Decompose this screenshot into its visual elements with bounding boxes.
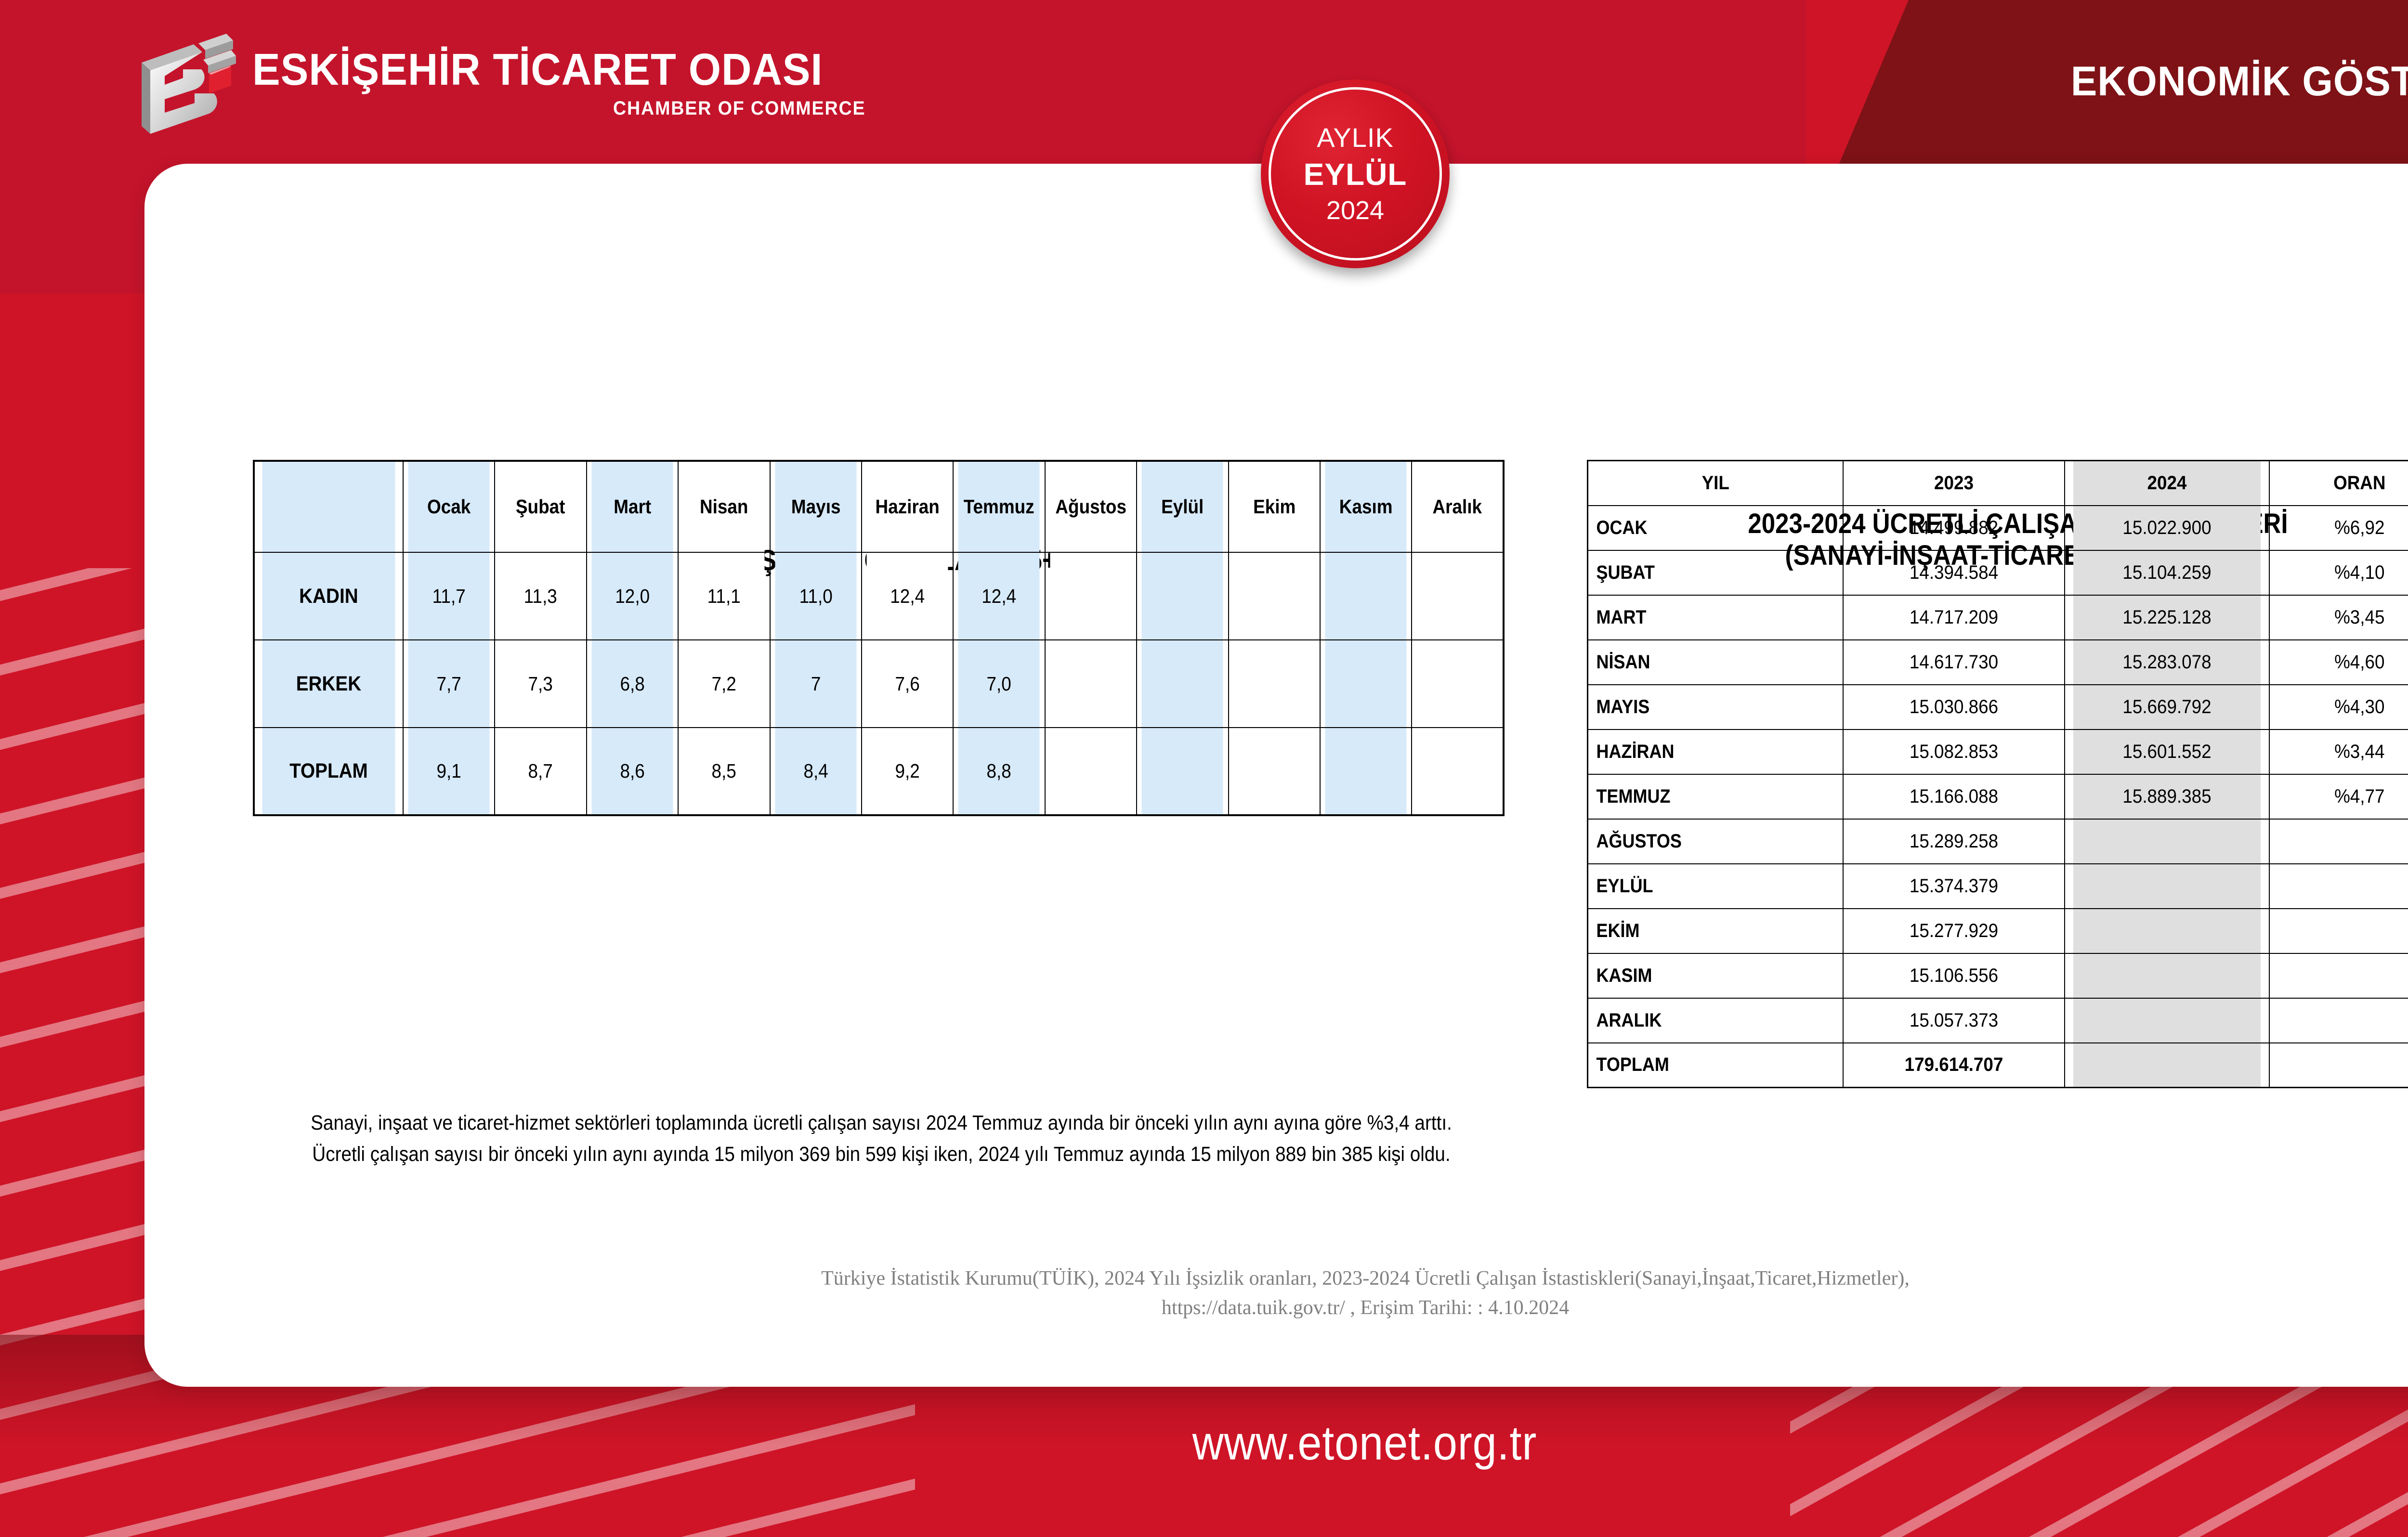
employees-cell-oran [2277,909,2408,953]
employees-table-header-row: YIL20232024ORAN [1588,461,2408,506]
unemployment-cell: 8,8 [958,728,1040,815]
poster-root: ESKİŞEHİR TİCARET ODASI CHAMBER OF COMME… [0,0,2408,1537]
employees-cell-2023: 15.106.556 [1852,953,2055,998]
unemployment-cell [1049,640,1132,728]
unemployment-cell [1141,640,1224,728]
unemployment-month-header: Temmuz [958,461,1040,552]
employees-table-row: AĞUSTOS15.289.258 [1588,819,2408,864]
employees-column-header: 2023 [1852,461,2055,506]
employees-cell-2023: 14.617.730 [1852,640,2055,685]
employees-table-row: HAZİRAN15.082.85315.601.552%3,44 [1588,729,2408,774]
unemployment-cell [1324,728,1407,815]
employees-table-row: EKİM15.277.929 [1588,909,2408,953]
employees-row-month: OCAK [1588,506,1818,550]
employees-cell-oran: %4,30 [2277,685,2408,729]
unemployment-cell: 8,7 [499,728,582,815]
unemployment-table-row: KADIN11,711,312,011,111,012,412,4 [254,552,1504,640]
unemployment-month-header: Haziran [866,461,948,552]
unemployment-cell: 7,6 [866,640,948,728]
employees-table-row: MART14.717.20915.225.128%3,45 [1588,595,2408,640]
employees-row-month: HAZİRAN [1588,729,1818,774]
unemployment-cell [1233,640,1315,728]
unemployment-cell: 11,3 [499,552,582,640]
employees-cell-2024 [2073,819,2261,864]
employees-cell-2024 [2073,1043,2261,1088]
unemployment-table-header-row: OcakŞubatMartNisanMayısHaziranTemmuzAğus… [254,461,1504,552]
employees-row-month: TEMMUZ [1588,774,1818,819]
unemployment-cell [1233,552,1315,640]
unemployment-table: OcakŞubatMartNisanMayısHaziranTemmuzAğus… [253,460,1505,816]
unemployment-cell [1416,728,1499,815]
unemployment-corner-cell [262,461,396,552]
unemployment-month-header: Kasım [1324,461,1407,552]
employees-row-month: EKİM [1588,909,1818,953]
unemployment-month-header: Ekim [1233,461,1315,552]
employees-cell-2023: 15.374.379 [1852,864,2055,909]
employees-table-row: EYLÜL15.374.379 [1588,864,2408,909]
brand-subtitle: CHAMBER OF COMMERCE [289,98,865,119]
employees-row-month: ŞUBAT [1588,550,1818,595]
employees-table: YIL20232024ORAN OCAK14.499.88215.022.900… [1587,460,2408,1088]
unemployment-month-header: Eylül [1141,461,1224,552]
unemployment-cell [1233,728,1315,815]
employees-cell-2024: 15.022.900 [2073,506,2261,550]
employees-row-month: MART [1588,595,1818,640]
eto-logo-icon [135,29,236,140]
employees-column-header: YIL [1598,461,1833,506]
employees-cell-2024: 15.283.078 [2073,640,2261,685]
employees-cell-oran: %4,77 [2277,774,2408,819]
unemployment-cell [1324,552,1407,640]
employees-cell-2024 [2073,909,2261,953]
brand-title: ESKİŞEHİR TİCARET ODASI [252,47,823,92]
employees-cell-oran: %3,45 [2277,595,2408,640]
employees-cell-2024: 15.104.259 [2073,550,2261,595]
month-seal-badge: AYLIK EYLÜL 2024 [1261,79,1450,268]
unemployment-cell: 8,5 [683,728,765,815]
unemployment-cell: 12,4 [958,552,1040,640]
unemployment-month-header: Ağustos [1049,461,1132,552]
unemployment-cell: 12,4 [866,552,948,640]
employees-cell-2024 [2073,864,2261,909]
unemployment-cell: 11,1 [683,552,765,640]
summary-note: Sanayi, inşaat ve ticaret-hizmet sektörl… [296,1107,1466,1171]
employees-cell-oran: %4,10 [2277,550,2408,595]
unemployment-cell [1416,552,1499,640]
unemployment-cell: 12,0 [591,552,673,640]
unemployment-month-header: Mart [591,461,673,552]
seal-year: 2024 [1326,195,1384,227]
employees-table-row: ARALIK15.057.373 [1588,998,2408,1043]
employees-cell-oran [2277,998,2408,1043]
employees-cell-2023: 14.499.882 [1852,506,2055,550]
employees-cell-2023: 15.057.373 [1852,998,2055,1043]
employees-cell-oran [2277,953,2408,998]
unemployment-cell [1416,640,1499,728]
employees-cell-oran: %4,60 [2277,640,2408,685]
employees-column-header: 2024 [2073,461,2261,506]
unemployment-table-row: ERKEK7,77,36,87,277,67,0 [254,640,1504,728]
employees-row-month: KASIM [1588,953,1818,998]
employees-table-row: TEMMUZ15.166.08815.889.385%4,77 [1588,774,2408,819]
unemployment-cell: 6,8 [591,640,673,728]
unemployment-cell [1324,640,1407,728]
employees-cell-2024: 15.669.792 [2073,685,2261,729]
employees-cell-2024: 15.225.128 [2073,595,2261,640]
employees-cell-2024: 15.601.552 [2073,729,2261,774]
unemployment-cell: 9,2 [866,728,948,815]
employees-cell-2024 [2073,998,2261,1043]
unemployment-cell: 7 [774,640,857,728]
employees-cell-oran [2277,864,2408,909]
unemployment-cell: 11,0 [774,552,857,640]
employees-cell-2024: 15.889.385 [2073,774,2261,819]
employees-row-month: ARALIK [1588,998,1818,1043]
unemployment-month-header: Şubat [499,461,582,552]
employees-cell-2023: 15.277.929 [1852,909,2055,953]
employees-cell-2023: 14.717.209 [1852,595,2055,640]
employees-cell-oran: %3,44 [2277,729,2408,774]
source-citation: Türkiye İstatistik Kurumu(TÜİK), 2024 Yı… [385,1264,2345,1323]
unemployment-cell: 7,0 [958,640,1040,728]
unemployment-cell: 8,4 [774,728,857,815]
unemployment-row-label: ERKEK [262,640,396,728]
unemployment-cell [1049,552,1132,640]
seal-month: EYLÜL [1304,155,1407,195]
unemployment-month-header: Aralık [1416,461,1499,552]
employees-row-month: TOPLAM [1588,1043,1818,1088]
employees-row-month: EYLÜL [1588,864,1818,909]
unemployment-month-header: Ocak [408,461,490,552]
employees-cell-2023: 15.030.866 [1852,685,2055,729]
unemployment-row-label: TOPLAM [262,728,396,815]
unemployment-table-row: TOPLAM9,18,78,68,58,49,28,8 [254,728,1504,815]
employees-cell-oran: %6,92 [2277,506,2408,550]
unemployment-cell: 11,7 [408,552,490,640]
employees-row-month: NİSAN [1588,640,1818,685]
source-line-1: Türkiye İstatistik Kurumu(TÜİK), 2024 Yı… [385,1264,2345,1293]
source-line-2: https://data.tuik.gov.tr/ , Erişim Tarih… [385,1293,2345,1323]
employees-column-header: ORAN [2277,461,2408,506]
page-title: EKONOMİK GÖSTERGELER [2071,58,2408,105]
unemployment-cell [1141,552,1224,640]
brand-text: ESKİŞEHİR TİCARET ODASI CHAMBER OF COMME… [252,29,865,119]
content-card: 2024 İŞSİZLİK ORANLARI (15+ YAŞ) 2023-20… [144,164,2408,1387]
employees-cell-oran [2277,1043,2408,1088]
website-url[interactable]: www.etonet.org.tr [136,1416,2408,1471]
unemployment-cell: 7,7 [408,640,490,728]
employees-table-row: NİSAN14.617.73015.283.078%4,60 [1588,640,2408,685]
employees-table-row: MAYIS15.030.86615.669.792%4,30 [1588,685,2408,729]
employees-cell-2023: 14.394.584 [1852,550,2055,595]
employees-cell-2023: 179.614.707 [1852,1043,2055,1088]
unemployment-row-label: KADIN [262,552,396,640]
employees-cell-2023: 15.166.088 [1852,774,2055,819]
brand-logo-block: ESKİŞEHİR TİCARET ODASI CHAMBER OF COMME… [135,29,865,140]
unemployment-cell: 8,6 [591,728,673,815]
employees-cell-2023: 15.082.853 [1852,729,2055,774]
unemployment-month-header: Mayıs [774,461,857,552]
employees-row-month: AĞUSTOS [1588,819,1818,864]
unemployment-cell [1049,728,1132,815]
unemployment-cell [1141,728,1224,815]
unemployment-cell: 7,3 [499,640,582,728]
unemployment-month-header: Nisan [683,461,765,552]
employees-cell-2023: 15.289.258 [1852,819,2055,864]
employees-table-row: OCAK14.499.88215.022.900%6,92 [1588,506,2408,550]
employees-row-month: MAYIS [1588,685,1818,729]
employees-cell-2024 [2073,953,2261,998]
unemployment-cell: 7,2 [683,640,765,728]
employees-cell-oran [2277,819,2408,864]
employees-table-row: ŞUBAT14.394.58415.104.259%4,10 [1588,550,2408,595]
employees-table-row: TOPLAM179.614.707 [1588,1043,2408,1088]
seal-period-label: AYLIK [1317,121,1394,155]
employees-table-row: KASIM15.106.556 [1588,953,2408,998]
unemployment-cell: 9,1 [408,728,490,815]
